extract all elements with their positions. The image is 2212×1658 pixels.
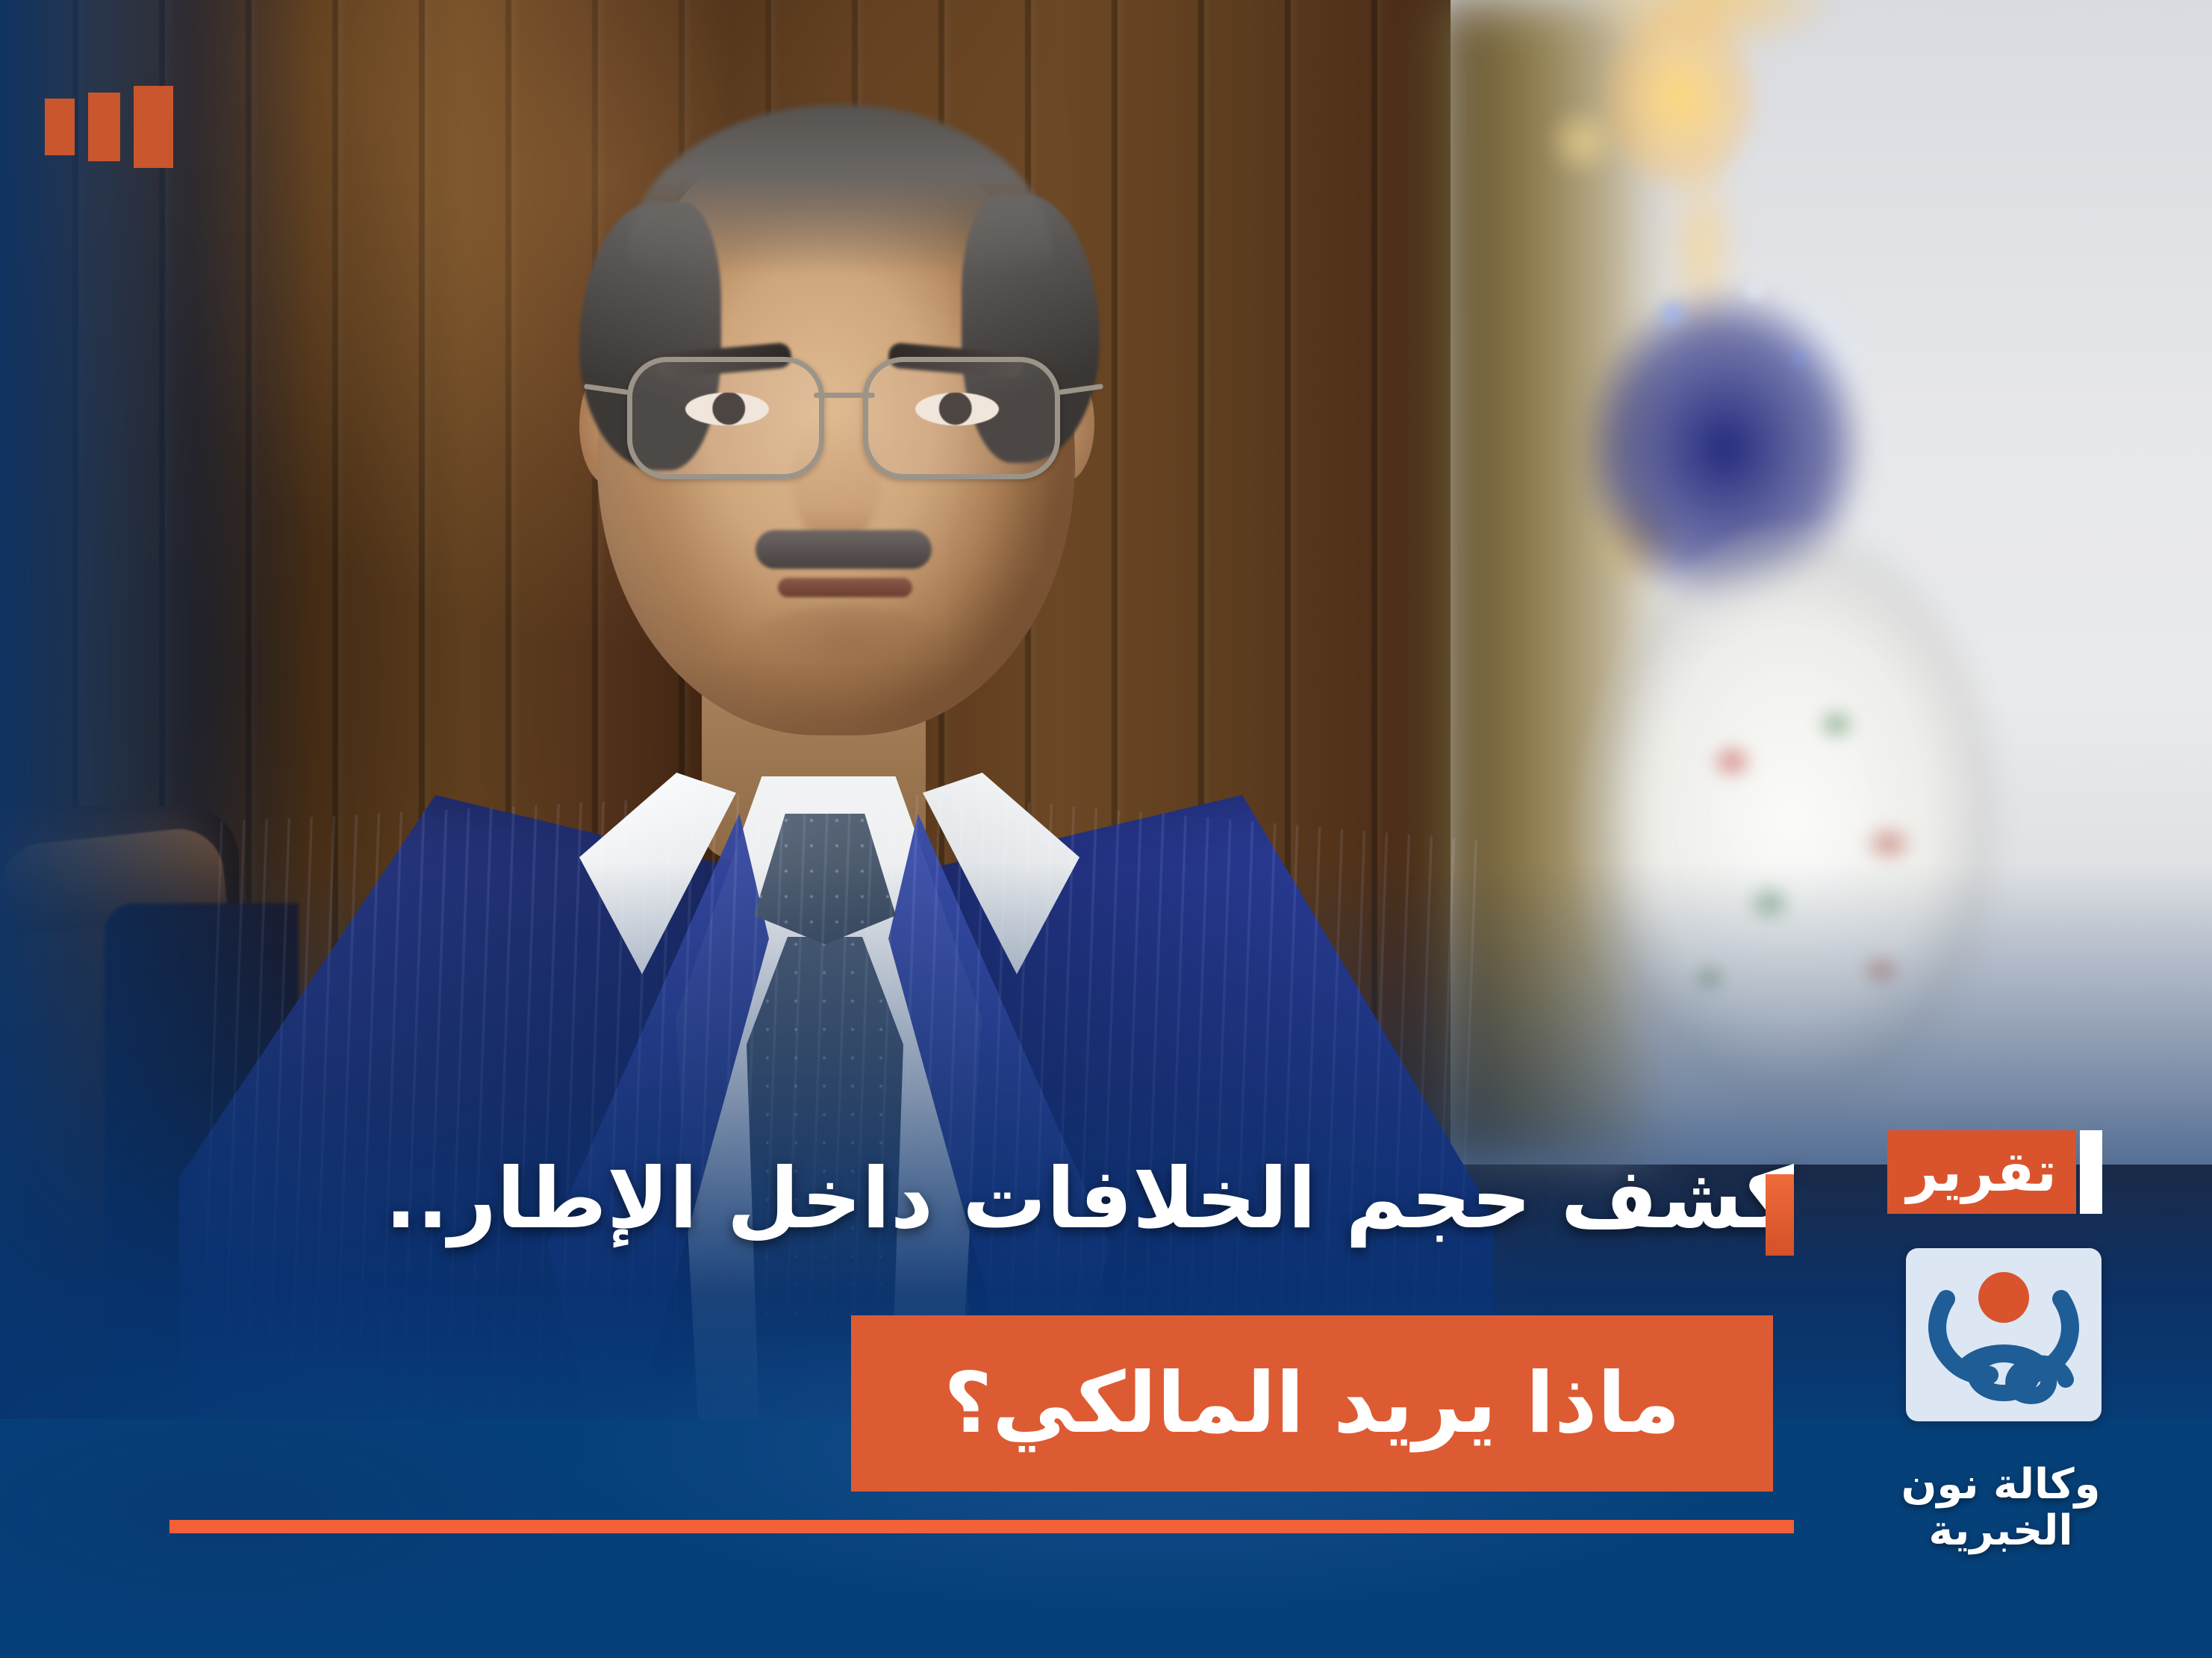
news-card: كشف حجم الخلافات داخل الإطار.. ماذا يريد… xyxy=(0,0,2212,1658)
bar-2 xyxy=(88,93,120,161)
bar-3 xyxy=(45,99,75,155)
noon-agency-logo-icon xyxy=(1906,1248,2102,1421)
bottom-divider-rule xyxy=(169,1520,1794,1533)
headline-line-2: ماذا يريد المالكي؟ xyxy=(851,1315,1773,1492)
report-badge: تقرير xyxy=(1887,1130,2076,1214)
agency-name: وكالة نون الخبرية xyxy=(1829,1462,2172,1553)
report-badge-accent-bar xyxy=(2080,1130,2102,1214)
headline-accent-tick xyxy=(1766,1174,1794,1256)
headline-line-1: كشف حجم الخلافات داخل الإطار.. xyxy=(385,1150,1794,1248)
three-bars-icon xyxy=(45,86,173,168)
bar-1 xyxy=(134,86,173,168)
report-badge-label: تقرير xyxy=(1907,1144,2057,1200)
